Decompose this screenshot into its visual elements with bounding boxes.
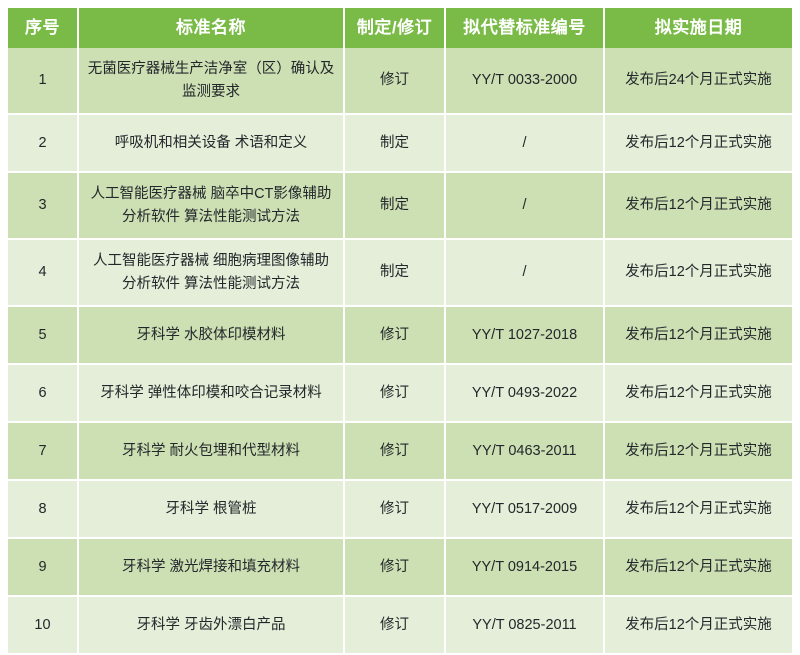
table-row: 6牙科学 弹性体印模和咬合记录材料修订YY/T 0493-2022发布后12个月… <box>8 364 792 422</box>
column-header-replaced-standard-no: 拟代替标准编号 <box>445 8 604 48</box>
cell-replaced-standard-no: / <box>445 239 604 306</box>
cell-standard-name: 牙科学 耐火包埋和代型材料 <box>78 422 344 480</box>
cell-standard-name: 人工智能医疗器械 脑卒中CT影像辅助分析软件 算法性能测试方法 <box>78 172 344 239</box>
cell-standard-name: 呼吸机和相关设备 术语和定义 <box>78 114 344 172</box>
cell-draft-or-revision: 修订 <box>344 480 445 538</box>
cell-draft-or-revision: 修订 <box>344 422 445 480</box>
cell-planned-date: 发布后12个月正式实施 <box>604 422 792 480</box>
cell-replaced-standard-no: YY/T 1027-2018 <box>445 306 604 364</box>
cell-planned-date: 发布后12个月正式实施 <box>604 114 792 172</box>
cell-draft-or-revision: 制定 <box>344 114 445 172</box>
cell-replaced-standard-no: YY/T 0033-2000 <box>445 48 604 114</box>
column-header-type: 制定/修订 <box>344 8 445 48</box>
cell-replaced-standard-no: YY/T 0825-2011 <box>445 596 604 654</box>
cell-draft-or-revision: 修订 <box>344 364 445 422</box>
cell-seq: 6 <box>8 364 78 422</box>
cell-draft-or-revision: 修订 <box>344 306 445 364</box>
standards-table: 序号 标准名称 制定/修订 拟代替标准编号 拟实施日期 1无菌医疗器械生产洁净室… <box>8 8 792 655</box>
column-header-planned-date: 拟实施日期 <box>604 8 792 48</box>
cell-planned-date: 发布后12个月正式实施 <box>604 364 792 422</box>
cell-draft-or-revision: 制定 <box>344 172 445 239</box>
cell-seq: 2 <box>8 114 78 172</box>
cell-planned-date: 发布后12个月正式实施 <box>604 306 792 364</box>
table-row: 2呼吸机和相关设备 术语和定义制定/发布后12个月正式实施 <box>8 114 792 172</box>
table-row: 1无菌医疗器械生产洁净室（区）确认及监测要求修订YY/T 0033-2000发布… <box>8 48 792 114</box>
cell-seq: 10 <box>8 596 78 654</box>
cell-seq: 1 <box>8 48 78 114</box>
table-row: 10牙科学 牙齿外漂白产品修订YY/T 0825-2011发布后12个月正式实施 <box>8 596 792 654</box>
cell-draft-or-revision: 修订 <box>344 48 445 114</box>
table-row: 5牙科学 水胶体印模材料修订YY/T 1027-2018发布后12个月正式实施 <box>8 306 792 364</box>
table-header: 序号 标准名称 制定/修订 拟代替标准编号 拟实施日期 <box>8 8 792 48</box>
cell-draft-or-revision: 制定 <box>344 239 445 306</box>
table-row: 3人工智能医疗器械 脑卒中CT影像辅助分析软件 算法性能测试方法制定/发布后12… <box>8 172 792 239</box>
cell-replaced-standard-no: / <box>445 114 604 172</box>
table-row: 4人工智能医疗器械 细胞病理图像辅助分析软件 算法性能测试方法制定/发布后12个… <box>8 239 792 306</box>
cell-standard-name: 牙科学 水胶体印模材料 <box>78 306 344 364</box>
cell-replaced-standard-no: YY/T 0463-2011 <box>445 422 604 480</box>
cell-draft-or-revision: 修订 <box>344 596 445 654</box>
cell-standard-name: 人工智能医疗器械 细胞病理图像辅助分析软件 算法性能测试方法 <box>78 239 344 306</box>
column-header-seq: 序号 <box>8 8 78 48</box>
cell-replaced-standard-no: / <box>445 172 604 239</box>
cell-seq: 4 <box>8 239 78 306</box>
cell-seq: 8 <box>8 480 78 538</box>
cell-replaced-standard-no: YY/T 0517-2009 <box>445 480 604 538</box>
cell-planned-date: 发布后12个月正式实施 <box>604 538 792 596</box>
cell-replaced-standard-no: YY/T 0914-2015 <box>445 538 604 596</box>
cell-planned-date: 发布后12个月正式实施 <box>604 239 792 306</box>
table-body: 1无菌医疗器械生产洁净室（区）确认及监测要求修订YY/T 0033-2000发布… <box>8 48 792 654</box>
table-row: 9牙科学 激光焊接和填充材料修订YY/T 0914-2015发布后12个月正式实… <box>8 538 792 596</box>
cell-standard-name: 无菌医疗器械生产洁净室（区）确认及监测要求 <box>78 48 344 114</box>
cell-planned-date: 发布后24个月正式实施 <box>604 48 792 114</box>
cell-seq: 5 <box>8 306 78 364</box>
cell-planned-date: 发布后12个月正式实施 <box>604 172 792 239</box>
cell-seq: 3 <box>8 172 78 239</box>
table-row: 7牙科学 耐火包埋和代型材料修订YY/T 0463-2011发布后12个月正式实… <box>8 422 792 480</box>
column-header-name: 标准名称 <box>78 8 344 48</box>
cell-seq: 7 <box>8 422 78 480</box>
table-row: 8牙科学 根管桩修订YY/T 0517-2009发布后12个月正式实施 <box>8 480 792 538</box>
cell-replaced-standard-no: YY/T 0493-2022 <box>445 364 604 422</box>
cell-seq: 9 <box>8 538 78 596</box>
cell-standard-name: 牙科学 牙齿外漂白产品 <box>78 596 344 654</box>
cell-planned-date: 发布后12个月正式实施 <box>604 596 792 654</box>
cell-standard-name: 牙科学 根管桩 <box>78 480 344 538</box>
cell-standard-name: 牙科学 激光焊接和填充材料 <box>78 538 344 596</box>
cell-draft-or-revision: 修订 <box>344 538 445 596</box>
cell-planned-date: 发布后12个月正式实施 <box>604 480 792 538</box>
cell-standard-name: 牙科学 弹性体印模和咬合记录材料 <box>78 364 344 422</box>
table-header-row: 序号 标准名称 制定/修订 拟代替标准编号 拟实施日期 <box>8 8 792 48</box>
